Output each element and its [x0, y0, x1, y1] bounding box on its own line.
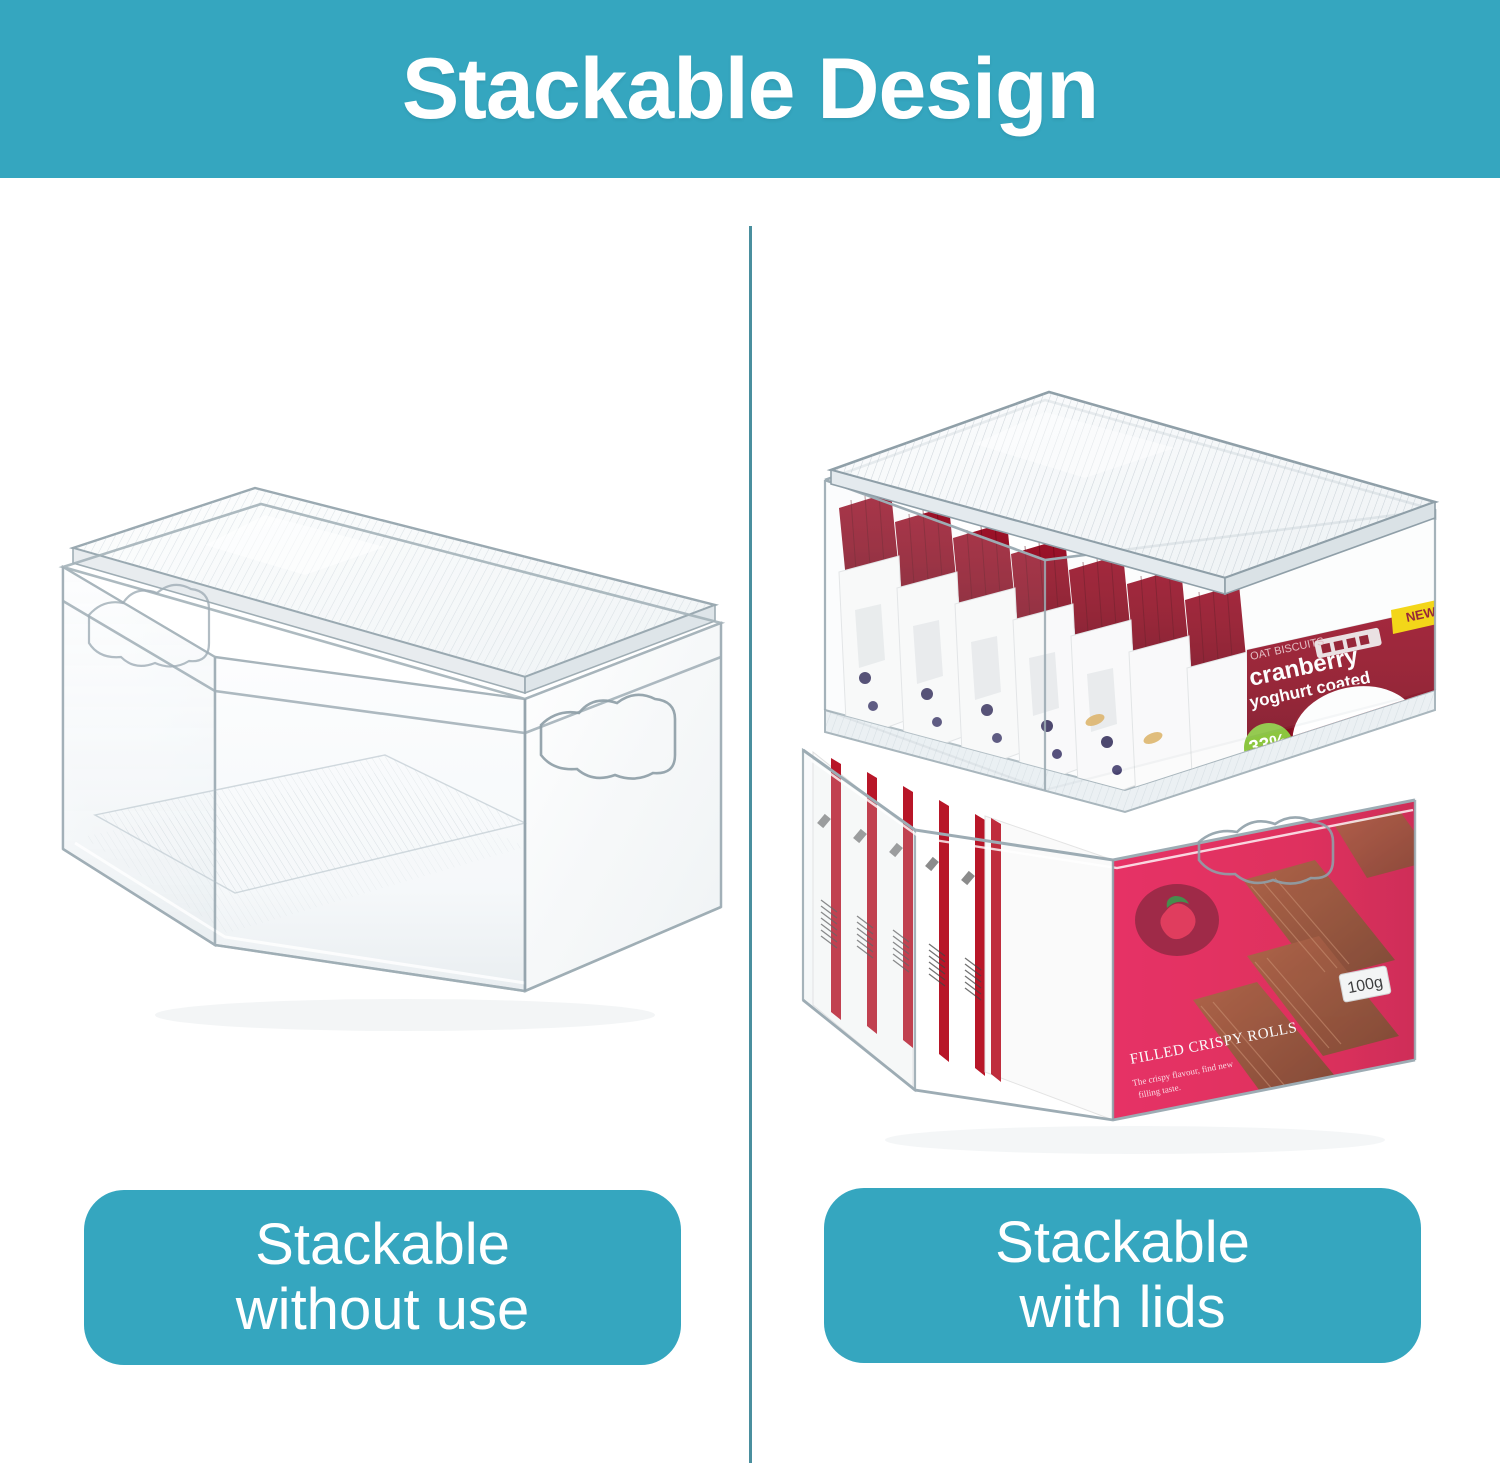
caption-pill-left: Stackable without use	[84, 1190, 681, 1365]
product-infographic-page: Stackable Design	[0, 0, 1500, 1463]
header-banner: Stackable Design	[0, 0, 1500, 178]
vertical-divider	[749, 226, 752, 1463]
product-photo-stacked-bins: 100g FILLED CRISPY ROLLS The crispy flav…	[795, 360, 1455, 1160]
caption-pill-right: Stackable with lids	[824, 1188, 1421, 1363]
caption-right-text: Stackable with lids	[995, 1211, 1250, 1341]
product-photo-empty-bin	[55, 455, 735, 1055]
biscuits-script: biscuits	[1348, 732, 1409, 765]
caption-left-text: Stackable without use	[236, 1213, 529, 1343]
page-title: Stackable Design	[402, 46, 1098, 132]
